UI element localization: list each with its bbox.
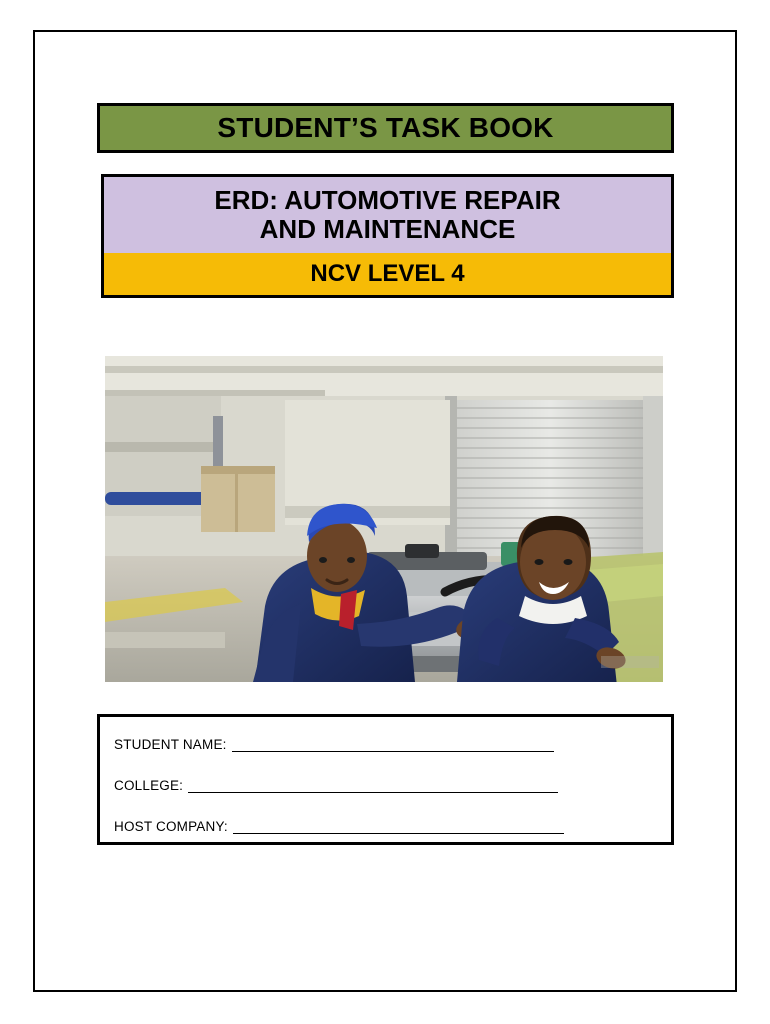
cover-photo-illustration [105,356,663,682]
college-input[interactable] [188,780,558,793]
student-name-label: STUDENT NAME: [114,737,227,752]
host-company-label: HOST COMPANY: [114,819,228,834]
document-page: STUDENT’S TASK BOOK ERD: AUTOMOTIVE REPA… [0,0,770,1024]
program-name-line-1: ERD: AUTOMOTIVE REPAIR [214,186,560,215]
student-details-box: STUDENT NAME: COLLEGE: HOST COMPANY: [97,714,674,845]
host-company-row: HOST COMPANY: [114,819,671,834]
student-name-input[interactable] [232,739,554,752]
student-name-row: STUDENT NAME: [114,737,671,752]
title-banner: STUDENT’S TASK BOOK [97,103,674,153]
program-level-text: NCV LEVEL 4 [310,262,464,286]
college-label: COLLEGE: [114,778,183,793]
program-level: NCV LEVEL 4 [104,253,671,295]
document-title: STUDENT’S TASK BOOK [217,114,553,142]
college-row: COLLEGE: [114,778,671,793]
program-name-line-2: AND MAINTENANCE [260,215,516,244]
program-name: ERD: AUTOMOTIVE REPAIR AND MAINTENANCE [104,177,671,253]
program-title-block: ERD: AUTOMOTIVE REPAIR AND MAINTENANCE N… [101,174,674,298]
cover-photo [105,356,663,682]
host-company-input[interactable] [233,821,564,834]
